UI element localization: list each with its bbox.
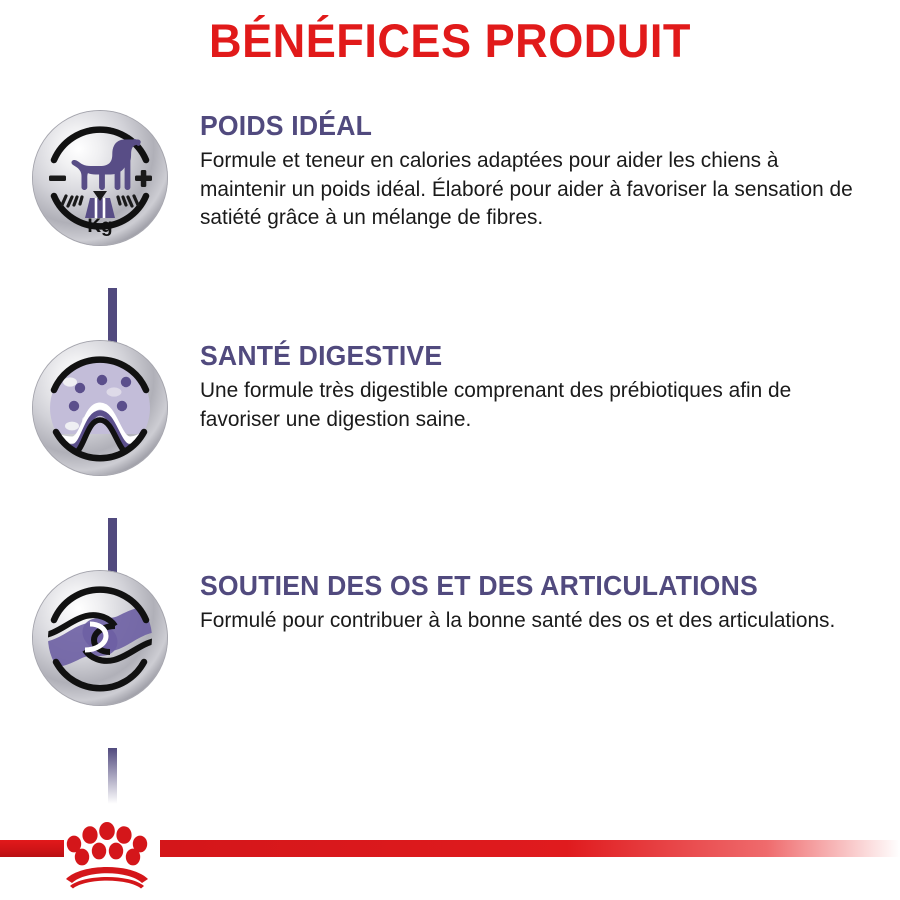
benefit-text-column: POIDS IDÉAL Formule et teneur en calorie… xyxy=(200,110,900,232)
benefit-icon-column xyxy=(0,340,200,476)
benefit-icon-column xyxy=(0,570,200,706)
benefit-heading-soutien-os-articulations: SOUTIEN DES OS ET DES ARTICULATIONS xyxy=(200,570,846,602)
weight-scale-dog-icon: Kg xyxy=(32,110,168,246)
benefit-heading-poids-ideal: POIDS IDÉAL xyxy=(200,110,846,142)
page-title: BÉNÉFICES PRODUIT xyxy=(18,16,882,65)
benefit-icon-column: Kg xyxy=(0,110,200,246)
benefit-text-column: SANTÉ DIGESTIVE Une formule très digesti… xyxy=(200,340,900,433)
benefit-body-sante-digestive: Une formule très digestible comprenant d… xyxy=(200,376,860,433)
benefit-row-poids-ideal: Kg POIDS IDÉAL Formule et teneur en calo… xyxy=(0,110,900,340)
benefits-list: Kg POIDS IDÉAL Formule et teneur en calo… xyxy=(0,110,900,730)
digestive-health-icon xyxy=(32,340,168,476)
benefit-heading-sante-digestive: SANTÉ DIGESTIVE xyxy=(200,340,846,372)
footer-bar-right xyxy=(160,840,900,857)
benefit-body-poids-ideal: Formule et teneur en calories adaptées p… xyxy=(200,146,860,232)
bone-joint-support-icon xyxy=(32,570,168,706)
svg-text:Kg: Kg xyxy=(87,216,112,237)
benefit-text-column: SOUTIEN DES OS ET DES ARTICULATIONS Form… xyxy=(200,570,900,635)
benefit-row-sante-digestive: SANTÉ DIGESTIVE Une formule très digesti… xyxy=(0,340,900,570)
royal-canin-crown-logo xyxy=(52,818,162,890)
connector-line-bottom xyxy=(108,748,117,810)
footer xyxy=(0,808,900,900)
benefit-row-soutien-os-articulations: SOUTIEN DES OS ET DES ARTICULATIONS Form… xyxy=(0,570,900,730)
benefit-body-soutien-os-articulations: Formulé pour contribuer à la bonne santé… xyxy=(200,606,860,635)
